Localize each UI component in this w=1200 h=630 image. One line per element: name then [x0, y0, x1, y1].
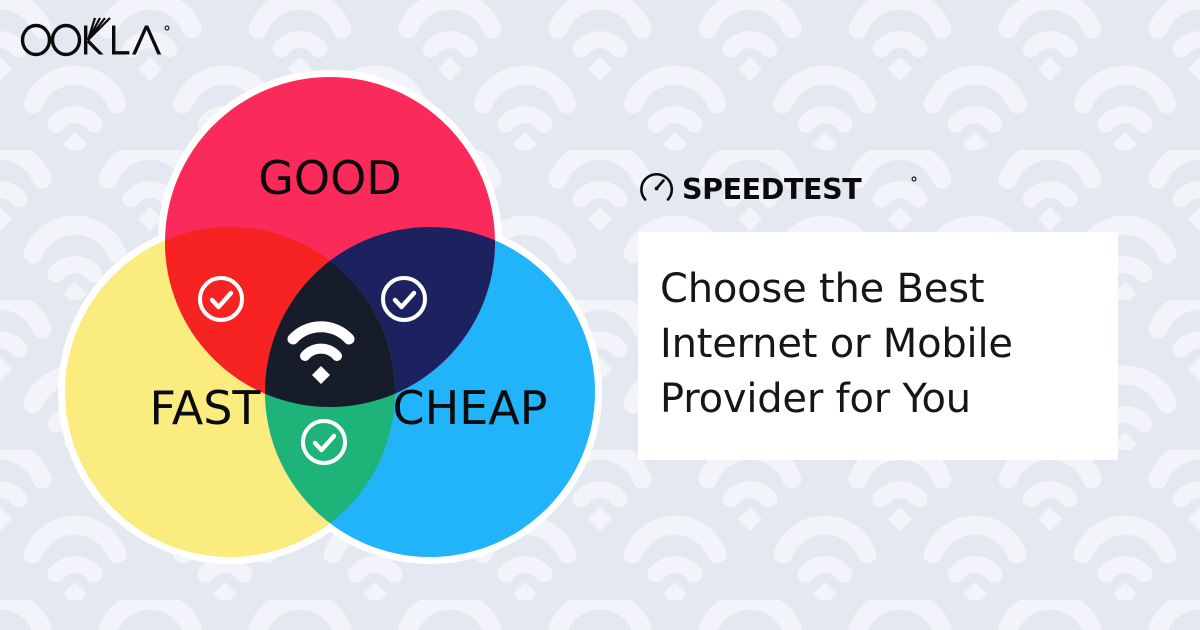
page-title: Choose the Best Internet or Mobile Provi… [660, 262, 1092, 428]
ookla-trademark-mark [165, 26, 169, 30]
ookla-logo [14, 14, 194, 62]
ookla-k-speedlines-icon [84, 18, 110, 55]
headline-card: Choose the Best Internet or Mobile Provi… [638, 232, 1118, 460]
venn-label-good: GOOD [258, 151, 401, 205]
speedtest-logo: SPEEDTEST [638, 168, 928, 208]
right-content-column: SPEEDTEST Choose the Best Internet or Mo… [638, 168, 1118, 460]
venn-diagram: GOOD FAST CHEAP [50, 62, 610, 572]
venn-label-cheap: CHEAP [393, 381, 548, 435]
speedometer-gauge-icon [641, 174, 671, 199]
promo-graphic: GOOD FAST CHEAP [0, 0, 1200, 630]
speedtest-trademark-mark [912, 177, 916, 181]
venn-label-fast: FAST [149, 381, 261, 435]
speedtest-wordmark: SPEEDTEST [682, 173, 862, 206]
